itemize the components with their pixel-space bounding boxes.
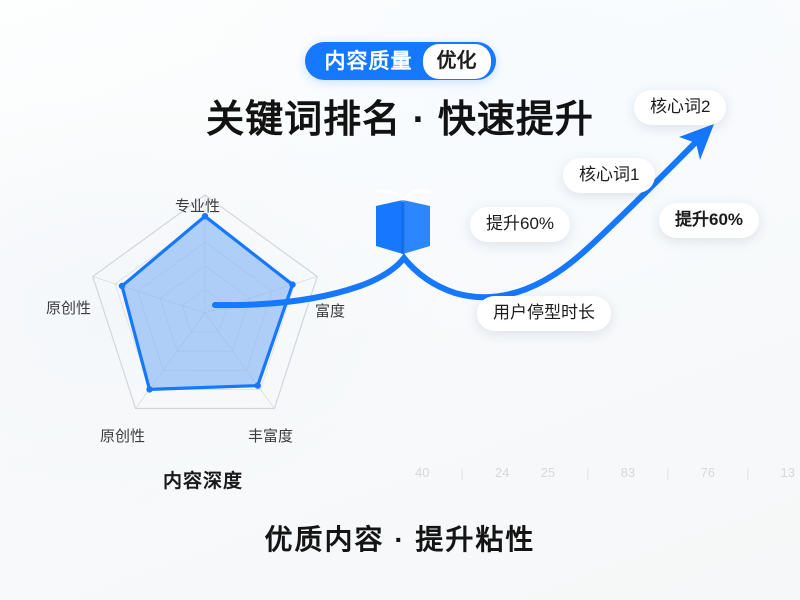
axis-tick-strip: 40|2425|83|76|13 xyxy=(415,465,795,480)
radar-series-area xyxy=(122,216,293,389)
quality-badge[interactable]: 内容质量 优化 xyxy=(305,42,496,80)
radar-axis-label-3: 原创性 xyxy=(100,425,145,446)
open-book-icon xyxy=(372,186,434,258)
footer-slogan: 优质内容 · 提升粘性 xyxy=(0,518,800,558)
tick-mark: | xyxy=(666,466,669,480)
radar-svg xyxy=(30,185,380,465)
tick-mark: | xyxy=(746,466,749,480)
content-depth-label: 内容深度 xyxy=(163,466,243,493)
radar-axis-label-4: 原创性 xyxy=(46,297,91,318)
tick-value: 13 xyxy=(781,465,795,480)
badge-container: 内容质量 优化 xyxy=(0,42,800,80)
tick-value: 25 xyxy=(541,465,555,480)
badge-chip-label: 优化 xyxy=(423,44,491,79)
pill-growth-right[interactable]: 提升60% xyxy=(659,203,759,238)
poster-canvas: 内容质量 优化 关键词排名 · 快速提升 专业性富度丰富度原创性原创性 内容深度… xyxy=(0,0,800,600)
tick-value: 24 xyxy=(495,465,509,480)
pill-growth-left[interactable]: 提升60% xyxy=(470,207,570,242)
radar-axis-label-1: 富度 xyxy=(315,300,345,321)
tick-value: 40 xyxy=(415,465,429,480)
pill-user-duration[interactable]: 用户停型时长 xyxy=(477,296,611,331)
radar-chart: 专业性富度丰富度原创性原创性 xyxy=(30,185,380,465)
pill-core-keyword-2[interactable]: 核心词2 xyxy=(634,90,726,125)
badge-main-label: 内容质量 xyxy=(325,51,423,72)
tick-value: 83 xyxy=(621,465,635,480)
pill-core-keyword-1[interactable]: 核心词1 xyxy=(563,158,655,193)
tick-mark: | xyxy=(461,466,464,480)
radar-axis-label-2: 丰富度 xyxy=(248,425,293,446)
radar-axis-label-0: 专业性 xyxy=(175,195,220,216)
tick-mark: | xyxy=(586,466,589,480)
tick-value: 76 xyxy=(701,465,715,480)
